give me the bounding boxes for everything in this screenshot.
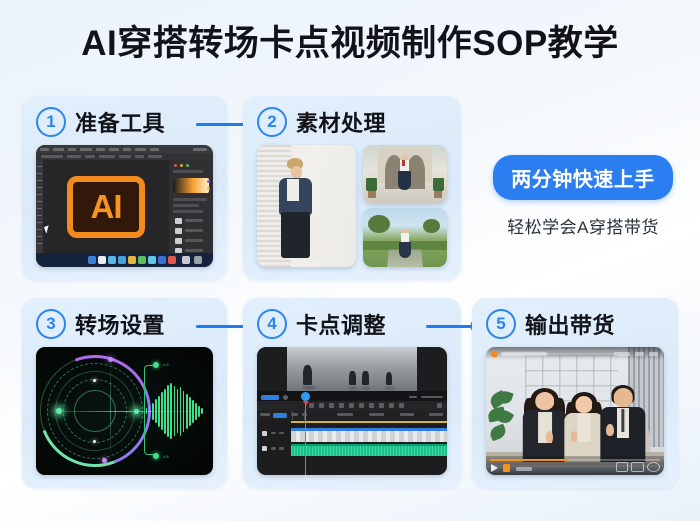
- outfit-photo-top-right[interactable]: [363, 145, 447, 203]
- promo-subtitle: 轻松学会A穿搭带货: [476, 213, 690, 238]
- editor-toolbar: [257, 401, 447, 411]
- step-4-title: 卡点调整: [296, 308, 386, 340]
- timeline-editor-thumbnail[interactable]: [257, 347, 447, 475]
- infographic-page: AI穿搭转场卡点视频制作SOP教学 1 准备工具: [0, 0, 700, 521]
- radar-visualizer: 4.8 4.8: [36, 347, 213, 475]
- illustrator-window: AI: [36, 145, 213, 267]
- audio-track-header[interactable]: [259, 444, 289, 456]
- illustrator-screenshot-thumbnail[interactable]: AI: [36, 145, 213, 267]
- step-4-number: 4: [257, 309, 287, 339]
- fullscreen-icon[interactable]: [647, 462, 660, 472]
- step-card-5[interactable]: 5 输出带货: [472, 298, 678, 488]
- presenter-left: [522, 388, 568, 462]
- step-4-header: 4 卡点调整: [257, 308, 386, 340]
- illustrator-toolbar: [36, 160, 43, 253]
- page-title: AI穿搭转场卡点视频制作SOP教学: [0, 22, 700, 66]
- plant-decor: [488, 391, 518, 458]
- timeline-ruler[interactable]: [257, 411, 447, 420]
- step-2-title: 素材处理: [296, 106, 386, 138]
- audio-waveform: [146, 382, 203, 440]
- step-5-header: 5 输出带货: [486, 308, 615, 340]
- step-1-header: 1 准备工具: [36, 106, 165, 138]
- step-card-2[interactable]: 2 素材处理: [243, 96, 461, 280]
- promo-badge[interactable]: 两分钟快速上手: [493, 155, 673, 200]
- play-icon[interactable]: [491, 464, 498, 472]
- editor-tab-bar: [257, 391, 447, 401]
- outfit-photo-bottom-right[interactable]: [363, 208, 447, 267]
- step-5-title: 输出带货: [525, 308, 615, 340]
- step-1-number: 1: [36, 107, 66, 137]
- step-3-header: 3 转场设置: [36, 308, 165, 340]
- illustrator-control-bar: [36, 153, 213, 160]
- promo-block: 两分钟快速上手 轻松学会A穿搭带货: [476, 155, 690, 238]
- color-swatch: [173, 178, 209, 193]
- next-icon[interactable]: [503, 464, 510, 472]
- outfit-photo-main[interactable]: [257, 145, 356, 267]
- outfit-photo-main-image: [257, 145, 356, 267]
- presenter-right: [600, 385, 646, 462]
- channel-icon: [491, 350, 498, 357]
- video-player-thumbnail[interactable]: [486, 347, 664, 475]
- outfit-photo-bottom-right-image: [363, 208, 447, 267]
- illustrator-canvas: AI: [43, 160, 169, 253]
- pip-icon[interactable]: [631, 462, 644, 472]
- player-controls-bar[interactable]: [486, 456, 664, 475]
- step-5-number: 5: [486, 309, 516, 339]
- settings-icon[interactable]: [616, 462, 628, 472]
- presenter-middle: [563, 392, 606, 462]
- transition-visualizer-thumbnail[interactable]: 4.8 4.8: [36, 347, 213, 475]
- preview-monitor: [287, 347, 416, 391]
- video-title-text: [501, 352, 547, 356]
- step-1-title: 准备工具: [75, 106, 165, 138]
- step-3-number: 3: [36, 309, 66, 339]
- video-editor-window: [257, 347, 447, 475]
- video-track[interactable]: [291, 428, 447, 442]
- player-top-bar: [486, 347, 664, 360]
- step-3-title: 转场设置: [75, 308, 165, 340]
- step-2-header: 2 素材处理: [257, 106, 386, 138]
- illustrator-logo: AI: [67, 176, 145, 238]
- illustrator-menubar: [36, 145, 213, 153]
- macos-dock: [36, 253, 213, 267]
- time-display: [516, 467, 532, 471]
- playhead[interactable]: [305, 396, 307, 475]
- audio-track[interactable]: [291, 444, 447, 456]
- video-track-header[interactable]: [259, 428, 289, 442]
- outfit-photo-top-right-image: [363, 145, 447, 203]
- step-2-number: 2: [257, 107, 287, 137]
- video-player: [486, 347, 664, 475]
- timeline-marker-line: [291, 421, 447, 422]
- illustrator-right-panel: [169, 160, 213, 253]
